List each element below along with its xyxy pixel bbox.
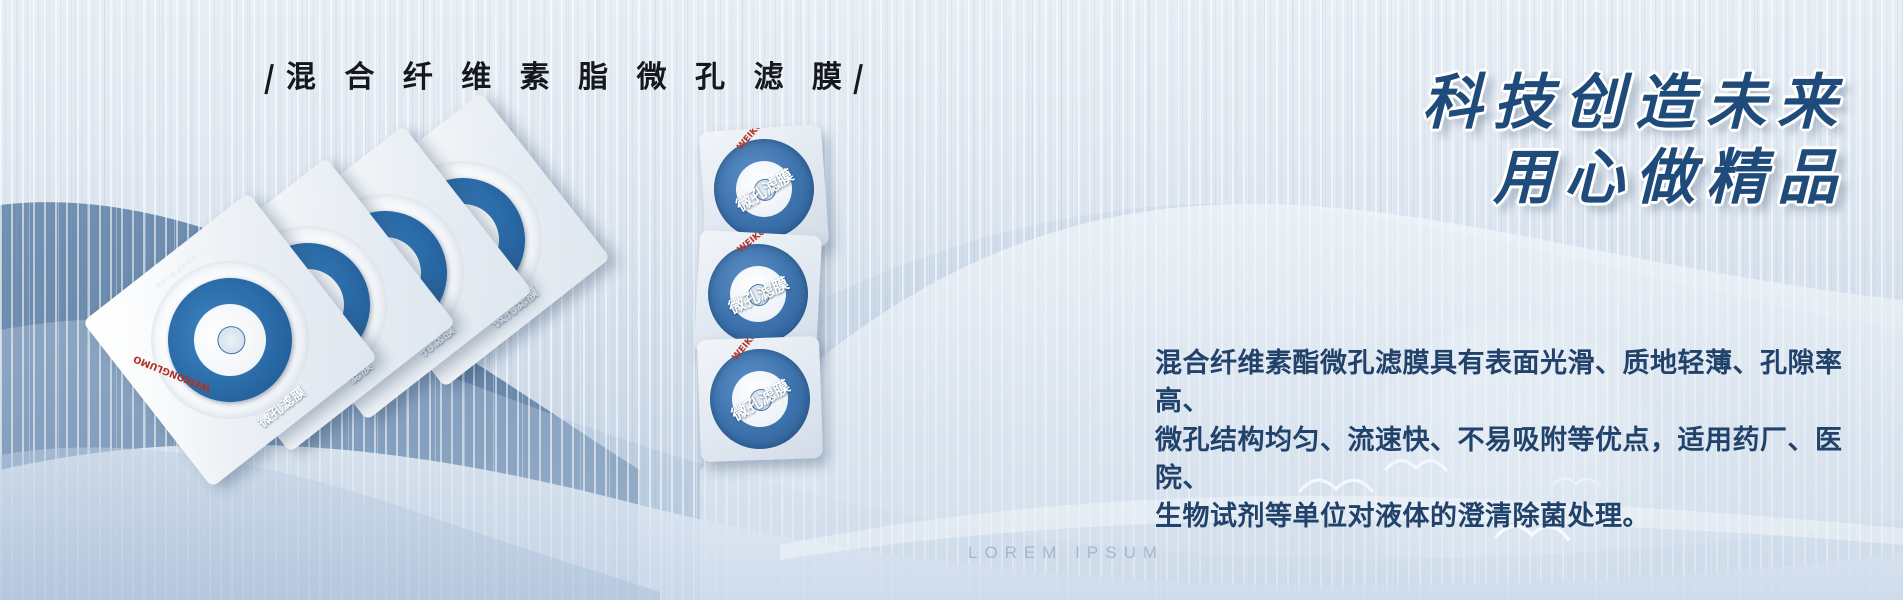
description-line-2: 微孔结构均匀、流速快、不易吸附等优点，适用药厂、医院、	[1155, 422, 1845, 499]
description-block: 混合纤维素酯微孔滤膜具有表面光滑、质地轻薄、孔隙率高、 微孔结构均匀、流速快、不…	[1155, 345, 1845, 537]
title-text: 混 合 纤 维 素 脂 微 孔 滤 膜	[286, 60, 851, 95]
title-trailing-mark: |	[847, 60, 878, 95]
title-leading-mark: |	[258, 60, 289, 95]
description-line-1: 混合纤维素酯微孔滤膜具有表面光滑、质地轻薄、孔隙率高、	[1155, 345, 1845, 422]
promo-banner: |混 合 纤 维 素 脂 微 孔 滤 膜| WEIKONGLUMO 优质产品 品…	[0, 0, 1903, 600]
label-emblem	[212, 321, 251, 360]
product-package-group: WEIKONGLUMO 优质产品 品质保证 微孔滤膜 WEIKONGLUMO 优…	[115, 130, 585, 460]
filter-sample: WEIKONGLUMO 微孔滤膜	[697, 336, 823, 462]
headline-line-1: 科技创造未来	[1068, 68, 1848, 139]
headline-line-2: 用心做精品	[1068, 143, 1848, 214]
headline-block: 科技创造未来 用心做精品	[1068, 68, 1848, 214]
section-title: |混 合 纤 维 素 脂 微 孔 滤 膜|	[262, 52, 875, 96]
watermark-text: LOREM IPSUM	[968, 543, 1164, 563]
description-line-3: 生物试剂等单位对液体的澄清除菌处理。	[1155, 498, 1845, 536]
